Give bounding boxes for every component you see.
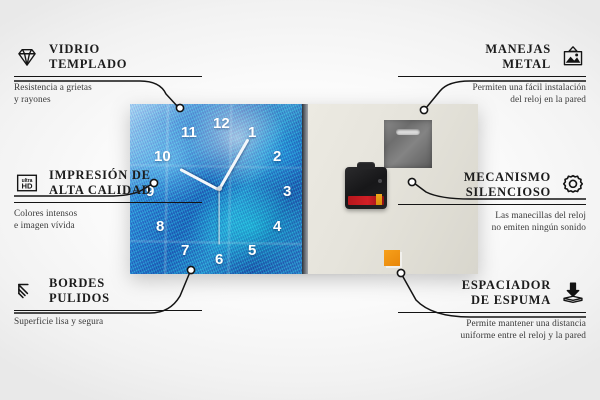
- feature-espaciador-espuma: ESPACIADOR DE ESPUMA Permite mantener un…: [398, 278, 586, 343]
- feature-bordes-pulidos: BORDES PULIDOS Superficie lisa y segura: [14, 276, 202, 328]
- feature-title: MECANISMO SILENCIOSO: [464, 170, 551, 200]
- mechanism-label: [348, 196, 384, 205]
- metal-hanger-plate: [384, 120, 432, 168]
- feature-title: BORDES PULIDOS: [49, 276, 110, 306]
- clock-numeral-4: 4: [273, 219, 281, 234]
- feature-vidrio-templado: VIDRIO TEMPLADO Resistencia a grietas y …: [14, 42, 202, 107]
- quartz-mechanism: [345, 167, 387, 209]
- polished-edges-icon: [14, 278, 40, 304]
- feature-description: Resistencia a grietas y rayones: [14, 82, 202, 107]
- clock-center-cap: [217, 186, 222, 191]
- feature-description: Colores intensos e imagen vívida: [14, 208, 202, 233]
- divider: [14, 76, 202, 78]
- divider: [398, 76, 586, 78]
- feature-description: Las manecillas del reloj no emiten ningú…: [398, 210, 586, 235]
- feature-description: Superficie lisa y segura: [14, 316, 202, 328]
- infographic-canvas: 12 1 2 3 4 5 6 7 8 9 10 11: [0, 0, 600, 400]
- feature-mecanismo-silencioso: MECANISMO SILENCIOSO Las manecillas del …: [398, 170, 586, 235]
- feature-header: MECANISMO SILENCIOSO: [398, 170, 586, 200]
- foam-spacer-icon: [560, 280, 586, 306]
- feature-header: BORDES PULIDOS: [14, 276, 202, 306]
- picture-hanger-icon: [560, 44, 586, 70]
- clock-numeral-1: 1: [248, 125, 256, 140]
- feature-manejas-metal: MANEJAS METAL Permiten una fácil instala…: [398, 42, 586, 107]
- clock-numeral-11: 11: [181, 125, 197, 140]
- hanger-slot: [396, 129, 420, 135]
- mechanism-hanging-tab: [357, 162, 375, 169]
- ultra-hd-icon: ultra HD: [14, 170, 40, 196]
- diamond-icon: [14, 44, 40, 70]
- clock-numeral-3: 3: [283, 184, 291, 199]
- divider: [14, 310, 202, 312]
- feature-title: IMPRESIÓN DE ALTA CALIDAD: [49, 168, 151, 198]
- feature-header: ultra HD IMPRESIÓN DE ALTA CALIDAD: [14, 168, 202, 198]
- divider: [398, 312, 586, 314]
- gear-icon: [560, 172, 586, 198]
- divider: [14, 202, 202, 204]
- feature-title: ESPACIADOR DE ESPUMA: [462, 278, 551, 308]
- feature-title: VIDRIO TEMPLADO: [49, 42, 127, 72]
- feature-impresion-alta-calidad: ultra HD IMPRESIÓN DE ALTA CALIDAD Color…: [14, 168, 202, 233]
- divider: [398, 204, 586, 206]
- clock-numeral-2: 2: [273, 149, 281, 164]
- clock-numeral-6: 6: [215, 252, 223, 267]
- feature-description: Permiten una fácil instalación del reloj…: [398, 82, 586, 107]
- clock-minute-hand: [218, 138, 249, 190]
- clock-numeral-10: 10: [154, 149, 171, 164]
- feature-header: VIDRIO TEMPLADO: [14, 42, 202, 72]
- feature-header: MANEJAS METAL: [398, 42, 586, 72]
- mechanism-dial: [378, 179, 382, 183]
- clock-second-hand: [218, 189, 219, 245]
- clock-numeral-12: 12: [213, 116, 230, 131]
- clock-numeral-7: 7: [181, 243, 189, 258]
- feature-title: MANEJAS METAL: [485, 42, 551, 72]
- foam-spacer: [384, 250, 400, 266]
- clock-numeral-5: 5: [248, 243, 256, 258]
- feature-description: Permite mantener una distancia uniforme …: [398, 318, 586, 343]
- svg-text:HD: HD: [21, 181, 33, 190]
- feature-header: ESPACIADOR DE ESPUMA: [398, 278, 586, 308]
